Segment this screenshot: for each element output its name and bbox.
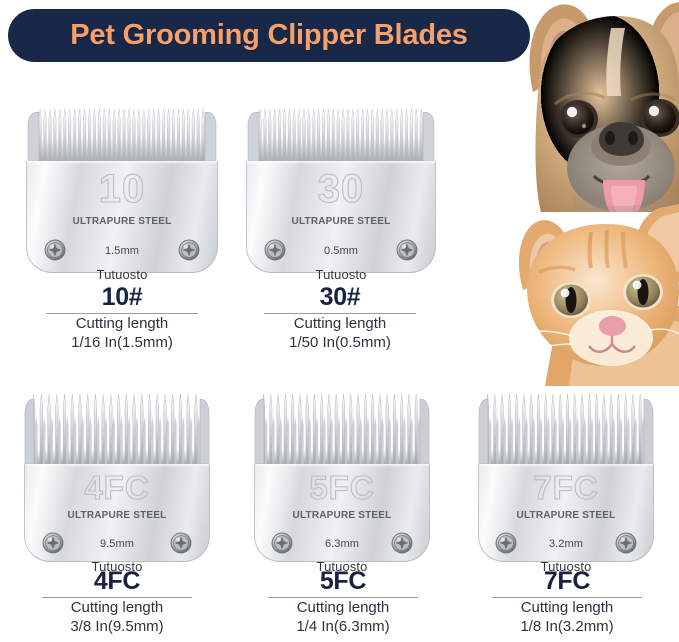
blade-caption: 5FC Cutting length 1/4 In(6.3mm): [268, 568, 418, 637]
blade-number-engraving: 5FC: [255, 471, 429, 504]
blade-image: 30 ULTRAPURE STEEL 0.5mm Tutuosto: [246, 103, 436, 273]
blade-caption: 4FC Cutting length 3/8 In(9.5mm): [42, 568, 192, 637]
screw-right-icon: [170, 532, 192, 554]
screw-left-icon: [42, 532, 64, 554]
steel-label: ULTRAPURE STEEL: [479, 511, 653, 521]
blade-body: 5FC ULTRAPURE STEEL 6.3mm Tutuosto: [254, 464, 430, 562]
blade-mm-value: 9.5mm: [100, 538, 134, 550]
blade-image: 10 ULTRAPURE STEEL 1.5mm Tutuosto: [26, 103, 218, 273]
blade-number-engraving: 7FC: [479, 471, 653, 504]
blade-body: 30 ULTRAPURE STEEL 0.5mm Tutuosto: [246, 161, 436, 273]
blade-card-blade-5fc: 5FC ULTRAPURE STEEL 6.3mm Tutuosto: [254, 392, 430, 562]
screw-left-icon: [44, 239, 66, 261]
blade-card-blade-4fc: 4FC ULTRAPURE STEEL 9.5mm Tutuosto: [24, 392, 210, 562]
blade-mm-value: 1.5mm: [105, 245, 139, 257]
steel-label: ULTRAPURE STEEL: [25, 511, 209, 521]
blade-image: 7FC ULTRAPURE STEEL 3.2mm Tutuosto: [478, 392, 654, 562]
blade-body: 4FC ULTRAPURE STEEL 9.5mm Tutuosto: [24, 464, 210, 562]
blade-image: 5FC ULTRAPURE STEEL 6.3mm Tutuosto: [254, 392, 430, 562]
caption-line-1: Cutting length: [42, 598, 192, 617]
steel-label: ULTRAPURE STEEL: [247, 217, 435, 227]
caption-line-1: Cutting length: [46, 314, 198, 333]
blade-image: 4FC ULTRAPURE STEEL 9.5mm Tutuosto: [24, 392, 210, 562]
dog-face-group: [530, 2, 679, 224]
caption-line-2: 1/50 In(0.5mm): [264, 333, 416, 352]
page-title: Pet Grooming Clipper Blades: [70, 19, 467, 52]
screw-right-icon: [396, 239, 418, 261]
caption-title: 5FC: [268, 568, 418, 594]
blade-mm-row: 0.5mm: [247, 238, 435, 262]
brand-name: Tutuosto: [27, 268, 217, 281]
blade-mm-value: 0.5mm: [324, 245, 358, 257]
blade-caption: 7FC Cutting length 1/8 In(3.2mm): [492, 568, 642, 637]
blade-mm-value: 3.2mm: [549, 538, 583, 550]
blade-teeth: [26, 103, 218, 161]
screw-right-icon: [391, 532, 413, 554]
blade-mm-row: 1.5mm: [27, 238, 217, 262]
blade-teeth: [24, 392, 210, 464]
blade-mm-row: 3.2mm: [479, 531, 653, 555]
blade-card-blade-7fc: 7FC ULTRAPURE STEEL 3.2mm Tutuosto: [478, 392, 654, 562]
blade-caption: 10# Cutting length 1/16 In(1.5mm): [46, 284, 198, 353]
blade-teeth: [254, 392, 430, 464]
header-banner: Pet Grooming Clipper Blades: [8, 9, 530, 62]
blade-body: 10 ULTRAPURE STEEL 1.5mm Tutuosto: [26, 161, 218, 273]
blade-teeth: [246, 103, 436, 161]
blade-number-engraving: 30: [247, 169, 435, 209]
screw-right-icon: [178, 239, 200, 261]
caption-line-2: 1/4 In(6.3mm): [268, 617, 418, 636]
blade-mm-value: 6.3mm: [325, 538, 359, 550]
blade-number-engraving: 4FC: [25, 471, 209, 504]
caption-line-2: 1/16 In(1.5mm): [46, 333, 198, 352]
caption-title: 30#: [264, 284, 416, 310]
screw-left-icon: [271, 532, 293, 554]
steel-label: ULTRAPURE STEEL: [27, 217, 217, 227]
steel-label: ULTRAPURE STEEL: [255, 511, 429, 521]
screw-left-icon: [264, 239, 286, 261]
caption-title: 4FC: [42, 568, 192, 594]
caption-line-1: Cutting length: [268, 598, 418, 617]
blade-mm-row: 9.5mm: [25, 531, 209, 555]
blade-caption: 30# Cutting length 1/50 In(0.5mm): [264, 284, 416, 353]
caption-title: 10#: [46, 284, 198, 310]
caption-line-1: Cutting length: [492, 598, 642, 617]
blade-number-engraving: 10: [27, 169, 217, 209]
cat-face-group: [519, 204, 679, 386]
screw-right-icon: [615, 532, 637, 554]
blade-card-blade-30: 30 ULTRAPURE STEEL 0.5mm Tutuosto: [246, 103, 436, 273]
blade-body: 7FC ULTRAPURE STEEL 3.2mm Tutuosto: [478, 464, 654, 562]
caption-title: 7FC: [492, 568, 642, 594]
blade-mm-row: 6.3mm: [255, 531, 429, 555]
blade-teeth: [478, 392, 654, 464]
pet-photos-group: [499, 0, 679, 386]
caption-line-2: 3/8 In(9.5mm): [42, 617, 192, 636]
screw-left-icon: [495, 532, 517, 554]
pet-photos-illustration: [499, 0, 679, 386]
caption-line-2: 1/8 In(3.2mm): [492, 617, 642, 636]
caption-line-1: Cutting length: [264, 314, 416, 333]
blade-card-blade-10: 10 ULTRAPURE STEEL 1.5mm Tutuosto: [26, 103, 218, 273]
brand-name: Tutuosto: [247, 268, 435, 281]
